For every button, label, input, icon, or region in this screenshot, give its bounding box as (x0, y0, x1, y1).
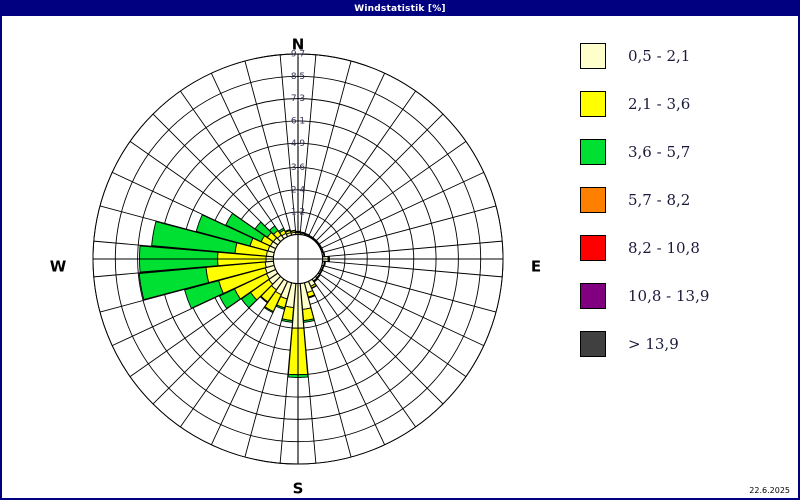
legend-label-6: > 13,9 (628, 335, 679, 353)
window-titlebar: Windstatistik [%] (2, 2, 798, 16)
legend-item: 0,5 - 2,1 (580, 32, 790, 80)
legend-label-1: 2,1 - 3,6 (628, 95, 690, 113)
date-stamp: 22.6.2025 (749, 486, 790, 495)
legend-item: 5,7 - 8,2 (580, 176, 790, 224)
window-title: Windstatistik [%] (354, 4, 446, 14)
legend-swatch-6 (580, 331, 606, 357)
radial-tick-label: 4,9 (291, 139, 306, 149)
legend-label-5: 10,8 - 13,9 (628, 287, 709, 305)
compass-label-west: W (50, 258, 67, 276)
legend-swatch-2 (580, 139, 606, 165)
legend-label-2: 3,6 - 5,7 (628, 143, 690, 161)
legend-label-3: 5,7 - 8,2 (628, 191, 690, 209)
legend-swatch-4 (580, 235, 606, 261)
legend-label-4: 8,2 - 10,8 (628, 239, 700, 257)
legend-swatch-5 (580, 283, 606, 309)
radial-tick-label: 6,1 (291, 116, 305, 126)
radial-tick-label: 1,2 (291, 208, 305, 218)
speed-bin-legend: 0,5 - 2,1 2,1 - 3,6 3,6 - 5,7 5,7 - 8,2 … (580, 32, 790, 368)
legend-swatch-3 (580, 187, 606, 213)
legend-item: 10,8 - 13,9 (580, 272, 790, 320)
legend-item: > 13,9 (580, 320, 790, 368)
radial-tick-label: 8,5 (291, 72, 305, 82)
compass-label-north: N (292, 36, 305, 54)
radial-tick-label: 3,6 (291, 163, 306, 173)
windrose-chart: 1,22,43,64,96,17,38,59,7 N S W E (2, 16, 562, 496)
legend-label-0: 0,5 - 2,1 (628, 47, 690, 65)
legend-swatch-0 (580, 43, 606, 69)
compass-label-south: S (293, 480, 304, 497)
legend-item: 2,1 - 3,6 (580, 80, 790, 128)
windrose-window: Windstatistik [%] 1,22,43,64,96,17,38,59… (0, 0, 800, 500)
legend-swatch-1 (580, 91, 606, 117)
radial-tick-label: 7,3 (291, 94, 305, 104)
legend-item: 3,6 - 5,7 (580, 128, 790, 176)
radial-tick-label: 2,4 (291, 185, 306, 195)
legend-item: 8,2 - 10,8 (580, 224, 790, 272)
compass-label-east: E (531, 258, 541, 276)
windrose-plot-area: 1,22,43,64,96,17,38,59,7 N S W E (2, 16, 562, 496)
